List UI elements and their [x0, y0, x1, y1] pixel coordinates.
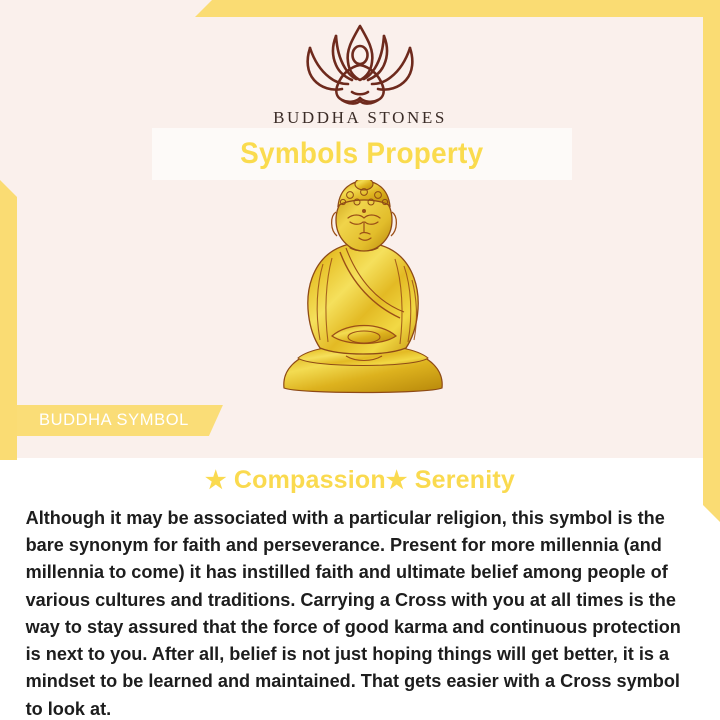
brand-name: BUDDHA STONES — [0, 108, 720, 128]
content-panel: ★ Compassion★ Serenity Although it may b… — [0, 458, 720, 720]
symbol-tag: BUDDHA SYMBOL — [17, 405, 223, 436]
page-title: Symbols Property — [240, 137, 483, 171]
content-paragraph: Although it may be associated with a par… — [0, 495, 709, 720]
lotus-meditation-icon — [282, 22, 438, 106]
subheading-word-2: Serenity — [408, 466, 515, 494]
star-icon-1: ★ — [205, 467, 227, 494]
star-icon-2: ★ — [386, 467, 408, 494]
right-accent-band — [703, 0, 720, 522]
brand-logo: BUDDHA STONES — [0, 22, 720, 128]
title-banner: Symbols Property — [152, 128, 572, 180]
top-accent-band — [195, 0, 720, 17]
symbol-tag-label: BUDDHA SYMBOL — [39, 411, 189, 430]
subheading-word-1: Compassion — [227, 466, 386, 494]
left-accent-band — [0, 180, 17, 460]
infographic-page: BUDDHA STONES Symbols Property — [0, 0, 720, 720]
hero-panel: BUDDHA STONES Symbols Property — [0, 0, 720, 458]
golden-seated-buddha-statue — [268, 180, 458, 405]
content-subheading: ★ Compassion★ Serenity — [0, 458, 720, 495]
